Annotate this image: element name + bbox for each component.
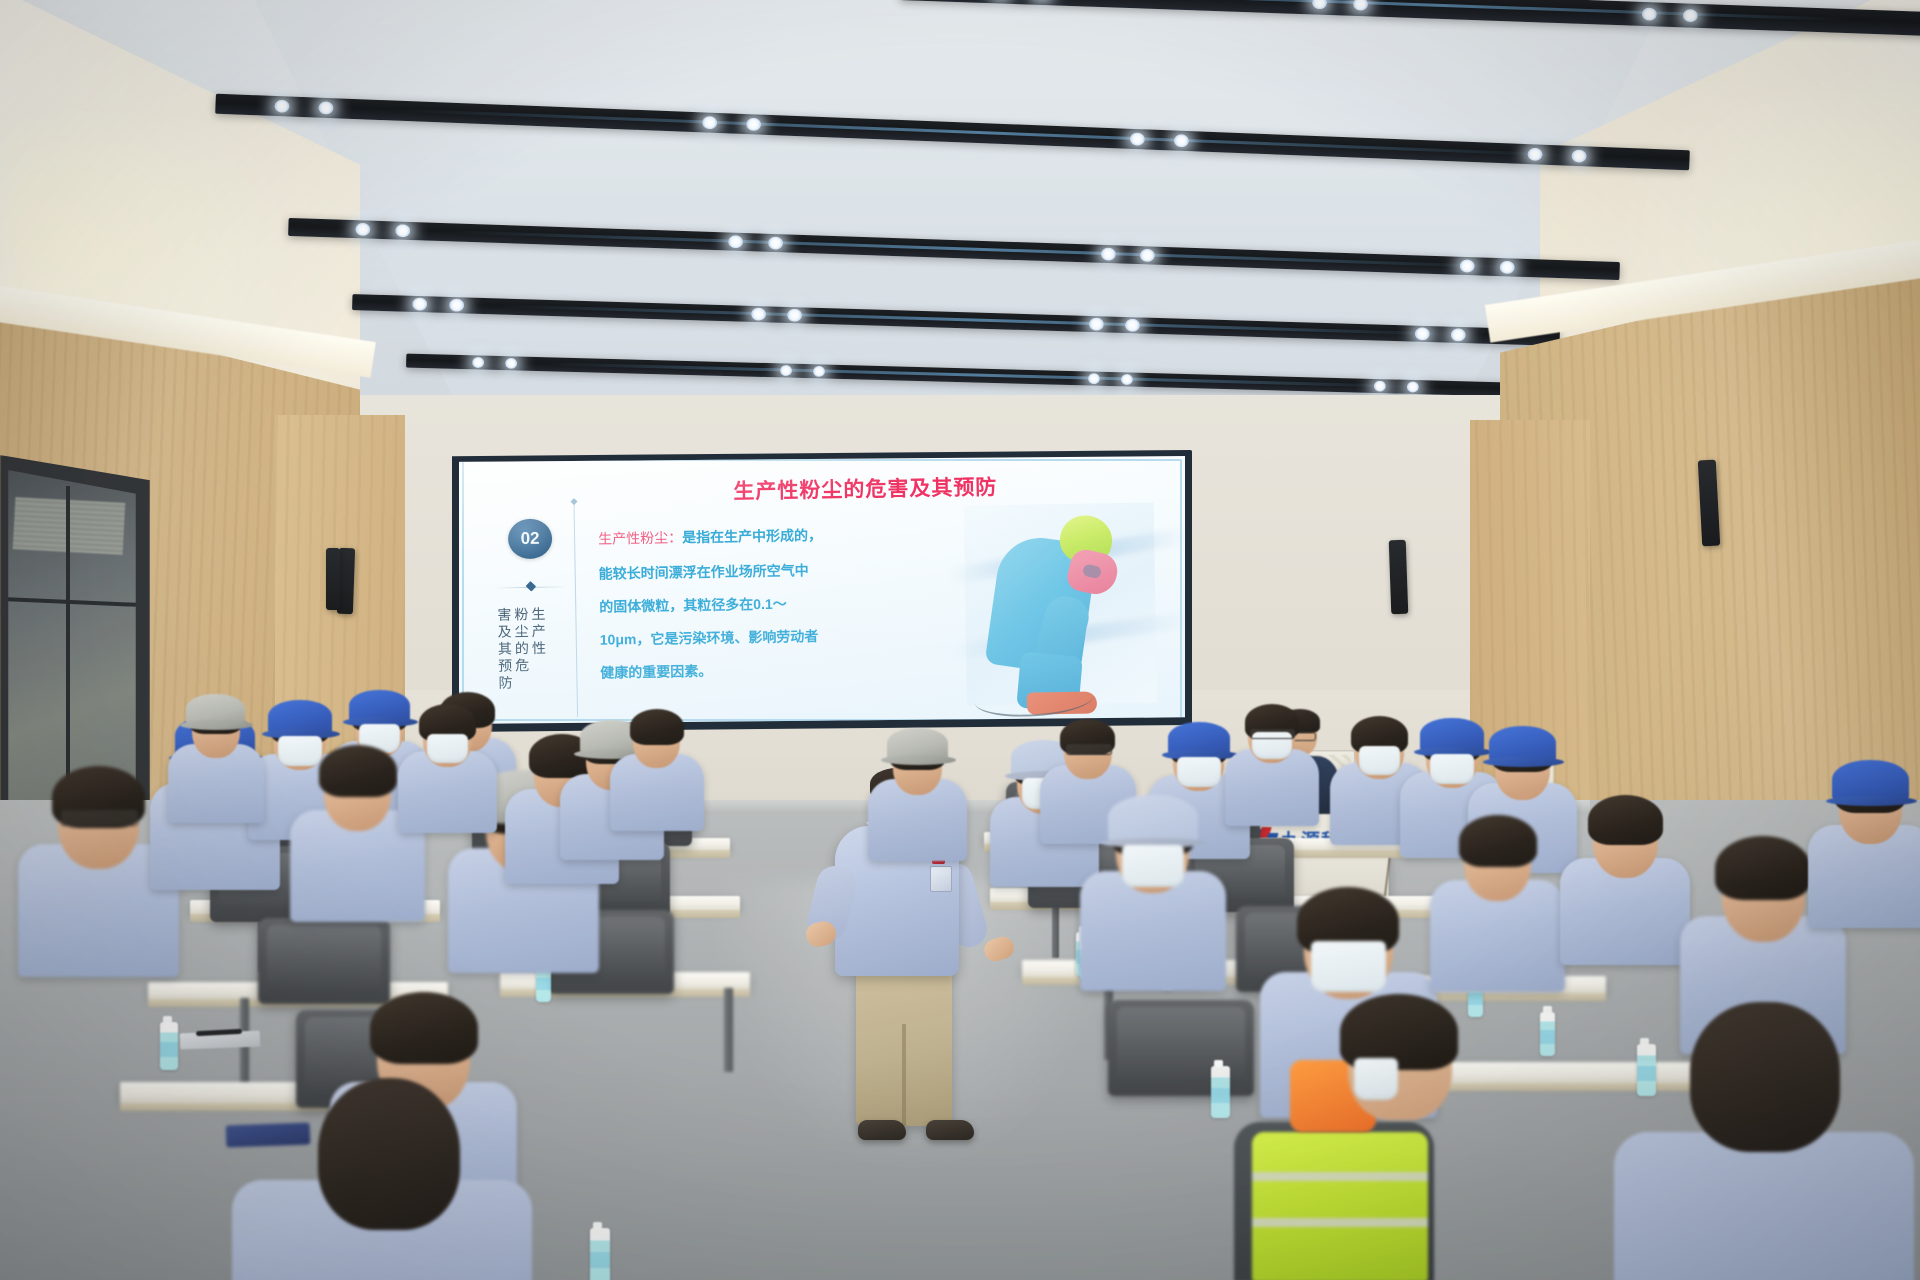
- water-bottle-8[interactable]: [590, 1228, 610, 1280]
- desk-leg-row3-b: [724, 988, 733, 1072]
- attendee-far-right-cap: [1808, 760, 1920, 954]
- attendee-front-right-1: [1080, 795, 1226, 1022]
- attendee-right-of-presenter: [868, 728, 967, 882]
- attendee-cap-blue: [1832, 760, 1909, 801]
- slide-line-3: 的固体微粒，其粒径多在0.1～: [599, 594, 929, 613]
- attendee-hair: [1588, 795, 1663, 845]
- attendee-glasses-icon: [61, 810, 137, 826]
- slide-lead-term: 生产性粉尘：: [598, 531, 682, 547]
- folder-on-desk[interactable]: [226, 1123, 311, 1148]
- slide-line-2: 能较长时间漂浮在作业场所空气中: [599, 561, 929, 580]
- water-bottle-4[interactable]: [1211, 1066, 1230, 1118]
- attendee-face-mask: [1122, 845, 1184, 887]
- vertical-label-col-1: 生产性: [529, 607, 544, 692]
- attendee-right-8: [1430, 810, 1565, 1021]
- presenter-shoe-left: [858, 1120, 906, 1140]
- vertical-label-col-3: 害及其预防: [495, 607, 510, 692]
- slide-body-text: 生产性粉尘：是指在生产中形成的， 能较长时间漂浮在作业场所空气中 的固体微粒，其…: [598, 526, 931, 698]
- attendee-mid-3: [610, 705, 704, 851]
- slide-line-5: 健康的重要因素。: [600, 660, 930, 679]
- attendee-far-right-torso: [1614, 1132, 1914, 1280]
- slide-photo-worker: [964, 502, 1157, 705]
- attendee-hair: [1715, 836, 1811, 900]
- training-room-photo: 生产性粉尘的危害及其预防 02 生产性 粉尘的危 害及其预防 生产性粉尘：是指在…: [0, 0, 1920, 1280]
- attendee-hair: [370, 992, 478, 1064]
- attendee-right-9: [1560, 790, 1690, 993]
- slide-title: 生产性粉尘的危害及其预防: [605, 469, 1125, 508]
- attendee-face-mask: [1359, 746, 1401, 775]
- slide-body-line-1: 生产性粉尘：是指在生产中形成的，: [598, 526, 928, 547]
- attendee-mid-left-3: [398, 700, 497, 854]
- attendee-hair: [1459, 815, 1537, 867]
- vertical-label-col-2: 粉尘的危: [512, 607, 527, 692]
- cap-brim: [1826, 796, 1917, 806]
- attendee-hi-vis-vest: [1252, 1132, 1428, 1280]
- attendee-cap-lblue: [1108, 795, 1198, 843]
- attendee-hair: [319, 745, 397, 797]
- attendee-far-right-head: [1690, 1002, 1840, 1152]
- attendee-cap-grey: [186, 694, 245, 725]
- attendee-vest-mask: [1354, 1058, 1398, 1100]
- slide-divider: [574, 502, 579, 717]
- attendee-cap-blue: [1168, 722, 1231, 755]
- attendee-left-6: [168, 694, 264, 843]
- slide-badge-diamond: [526, 581, 537, 592]
- water-bottle-5[interactable]: [1637, 1044, 1656, 1096]
- wall-speaker-right: [1389, 540, 1409, 615]
- attendee-face-mask: [1311, 941, 1386, 992]
- attendee-glasses-icon: [1066, 744, 1112, 754]
- attendee-bottom-left-head: [318, 1078, 460, 1230]
- presenter-pants: [856, 966, 952, 1126]
- attendee-cap-blue: [1489, 726, 1556, 762]
- slide-section-badge: 02: [508, 518, 553, 559]
- wall-speaker-left-upper: [326, 548, 340, 610]
- slide-line-4: 10μm，它是污染环境、影响劳动者: [600, 627, 930, 646]
- attendee-right-4: [1225, 700, 1319, 846]
- projection-screen: 生产性粉尘的危害及其预防 02 生产性 粉尘的危 害及其预防 生产性粉尘：是指在…: [459, 456, 1185, 724]
- attendee-face-mask: [1177, 757, 1220, 786]
- attendee-glasses-icon: [1250, 729, 1295, 739]
- attendee-cap-grey: [887, 728, 948, 760]
- attendee-hair: [630, 709, 684, 745]
- slide-vertical-label: 生产性 粉尘的危 害及其预防: [495, 607, 544, 693]
- attendee-cap-blue: [268, 700, 332, 734]
- attendee-face-mask: [427, 734, 469, 763]
- presenter-shoe-right: [926, 1120, 974, 1140]
- slide-line-1: 是指在生产中形成的，: [682, 527, 822, 545]
- water-bottle-1[interactable]: [160, 1022, 178, 1070]
- cap-brim: [1483, 757, 1564, 767]
